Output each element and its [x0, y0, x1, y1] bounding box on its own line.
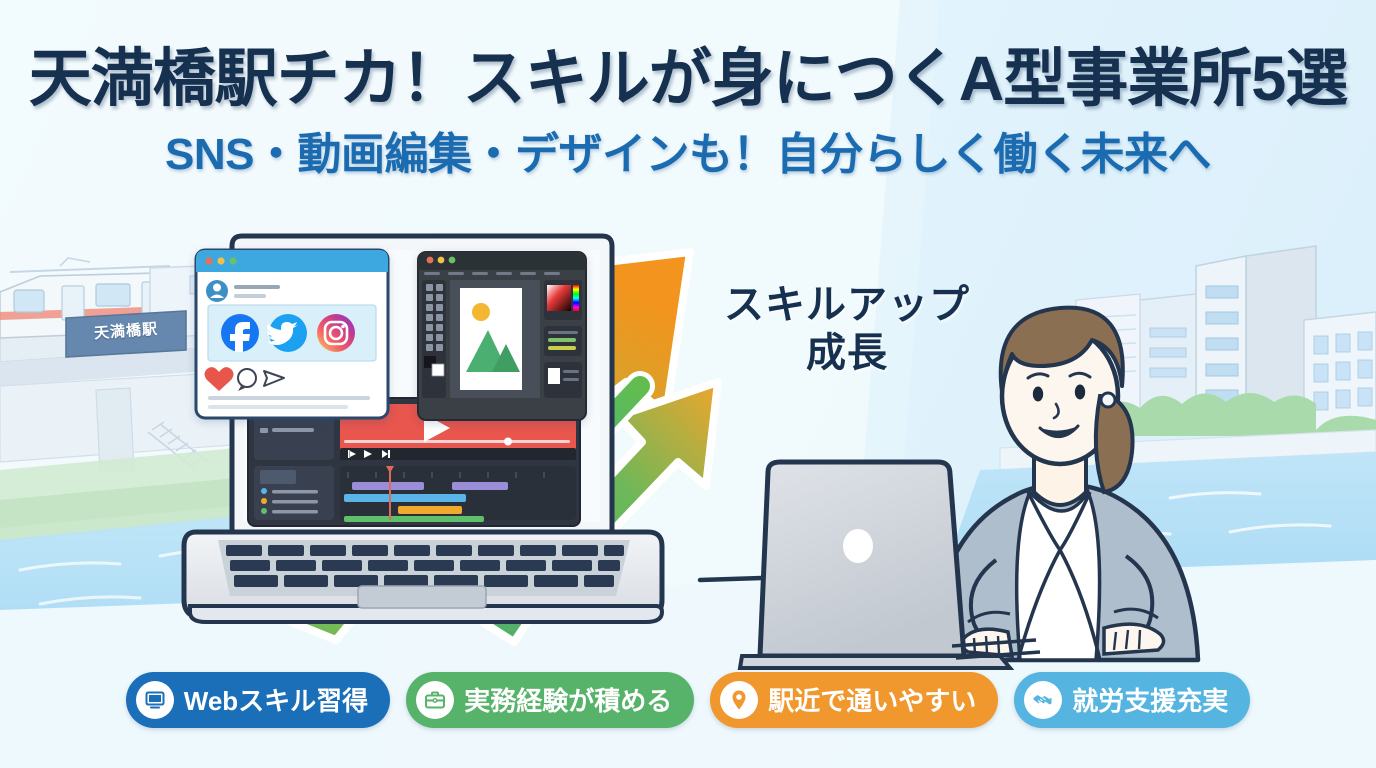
handshake-icon: [1024, 681, 1062, 719]
page-title: 天満橋駅チカ！スキルが身につくA型事業所5選: [0, 48, 1376, 111]
page-subtitle: SNS・動画編集・デザインも！自分らしく働く未来へ: [0, 133, 1376, 177]
growth-callout-line2: 成長: [712, 328, 982, 378]
location-pin-icon: [720, 681, 758, 719]
badge-near-station[interactable]: 駅近で通いやすい: [710, 672, 998, 728]
badge-label: Webスキル習得: [184, 681, 368, 718]
feature-badges: Webスキル習得 実務経験が積める 駅近で通いやすい: [0, 672, 1376, 728]
growth-callout: スキルアップ 成長: [712, 282, 982, 378]
design-app-window: [418, 252, 586, 420]
badge-employment-support[interactable]: 就労支援充実: [1014, 672, 1250, 728]
briefcase-icon: [416, 681, 454, 719]
badge-practical-experience[interactable]: 実務経験が積める: [406, 672, 694, 728]
badge-web-skill[interactable]: Webスキル習得: [126, 672, 390, 728]
badge-label: 就労支援充実: [1072, 681, 1228, 718]
badge-label: 実務経験が積める: [464, 681, 672, 718]
headings-block: 天満橋駅チカ！スキルが身につくA型事業所5選 SNS・動画編集・デザインも！自分…: [0, 0, 1376, 177]
social-media-card-window: [196, 250, 388, 418]
badge-label: 駅近で通いやすい: [768, 681, 976, 718]
monitor-icon: [136, 681, 174, 719]
growth-callout-line1: スキルアップ: [712, 282, 982, 328]
poster-canvas: 天満橋駅チカ！スキルが身につくA型事業所5選 SNS・動画編集・デザインも！自分…: [0, 0, 1376, 768]
